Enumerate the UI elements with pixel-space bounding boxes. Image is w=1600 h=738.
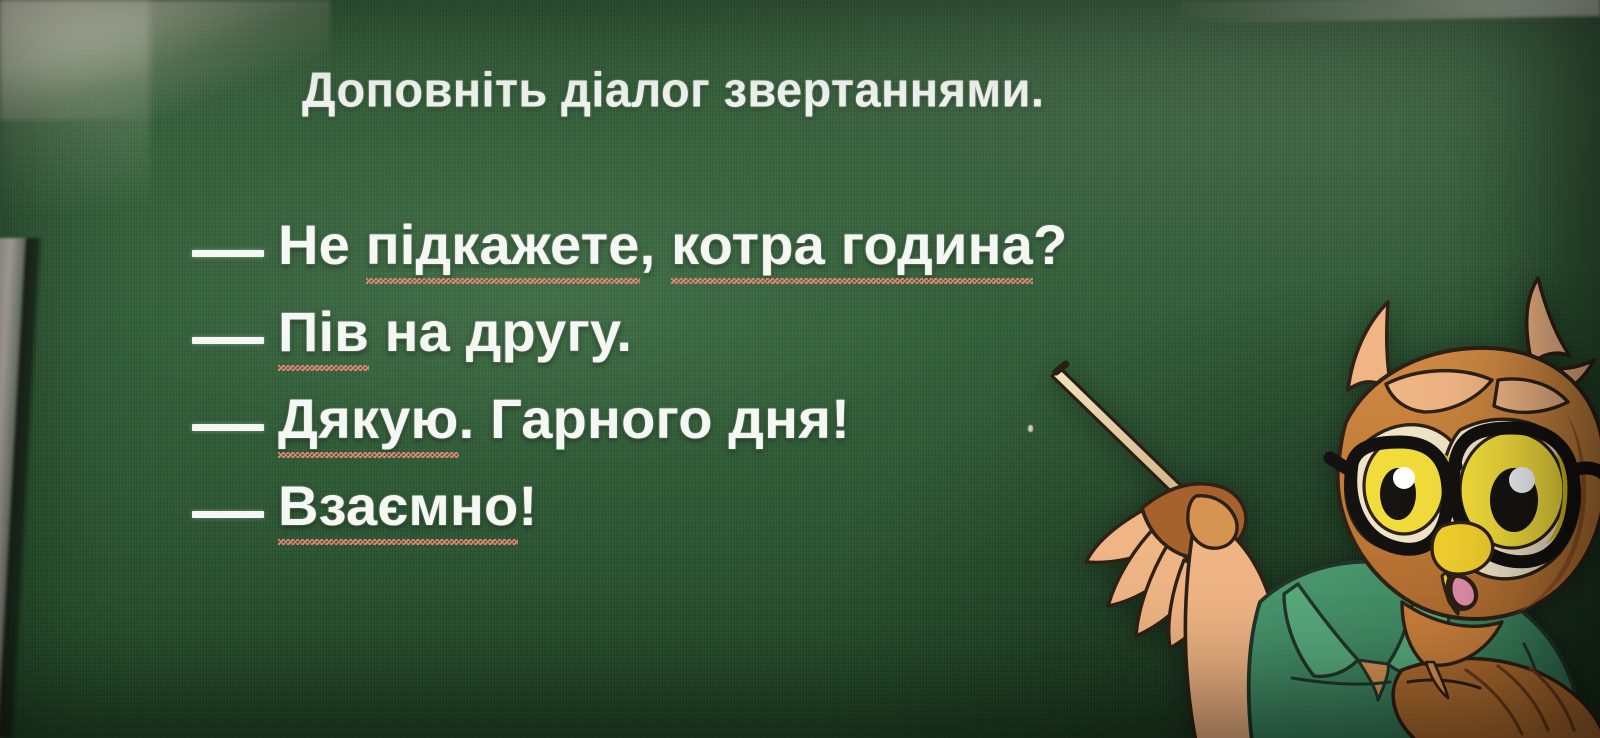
misspelled-word: Дякую (278, 386, 459, 451)
dialog-line-text: Не підкажете, котра година? (278, 212, 1067, 277)
dialog-line: Не підкажете, котра година? (190, 212, 1067, 299)
text-segment: на другу. (369, 300, 632, 363)
dialog-line-text: Дякую. Гарного дня! (278, 386, 850, 451)
text-segment: ? (1033, 213, 1067, 276)
dust-speck (1028, 425, 1033, 432)
text-segment: Не (278, 213, 366, 276)
slide-title: Доповніть діалог звертаннями. (302, 61, 1044, 118)
dialog-line: Пів на другу. (190, 299, 1067, 386)
dialog-list: Не підкажете, котра година? Пів на другу… (190, 212, 1067, 560)
misspelled-word: Взаємно (278, 473, 518, 538)
misspelled-word: Пів (278, 299, 369, 364)
text-segment: , (640, 213, 672, 276)
misspelled-word: котра година (671, 212, 1033, 277)
text-segment: ! (518, 474, 537, 537)
owl-teacher-mascot (1046, 272, 1600, 738)
dialog-line: Взаємно! (190, 473, 1067, 560)
dialog-line: Дякую. Гарного дня! (190, 386, 1067, 473)
dialog-line-text: Взаємно! (278, 473, 537, 538)
dialog-line-text: Пів на другу. (278, 299, 632, 364)
presentation-slide-photo: Доповніть діалог звертаннями. Не підкаже… (0, 0, 1600, 738)
pointer-stick-icon (1052, 364, 1196, 508)
text-segment: . Гарного дня! (459, 387, 850, 450)
misspelled-word: підкажете (366, 212, 640, 277)
